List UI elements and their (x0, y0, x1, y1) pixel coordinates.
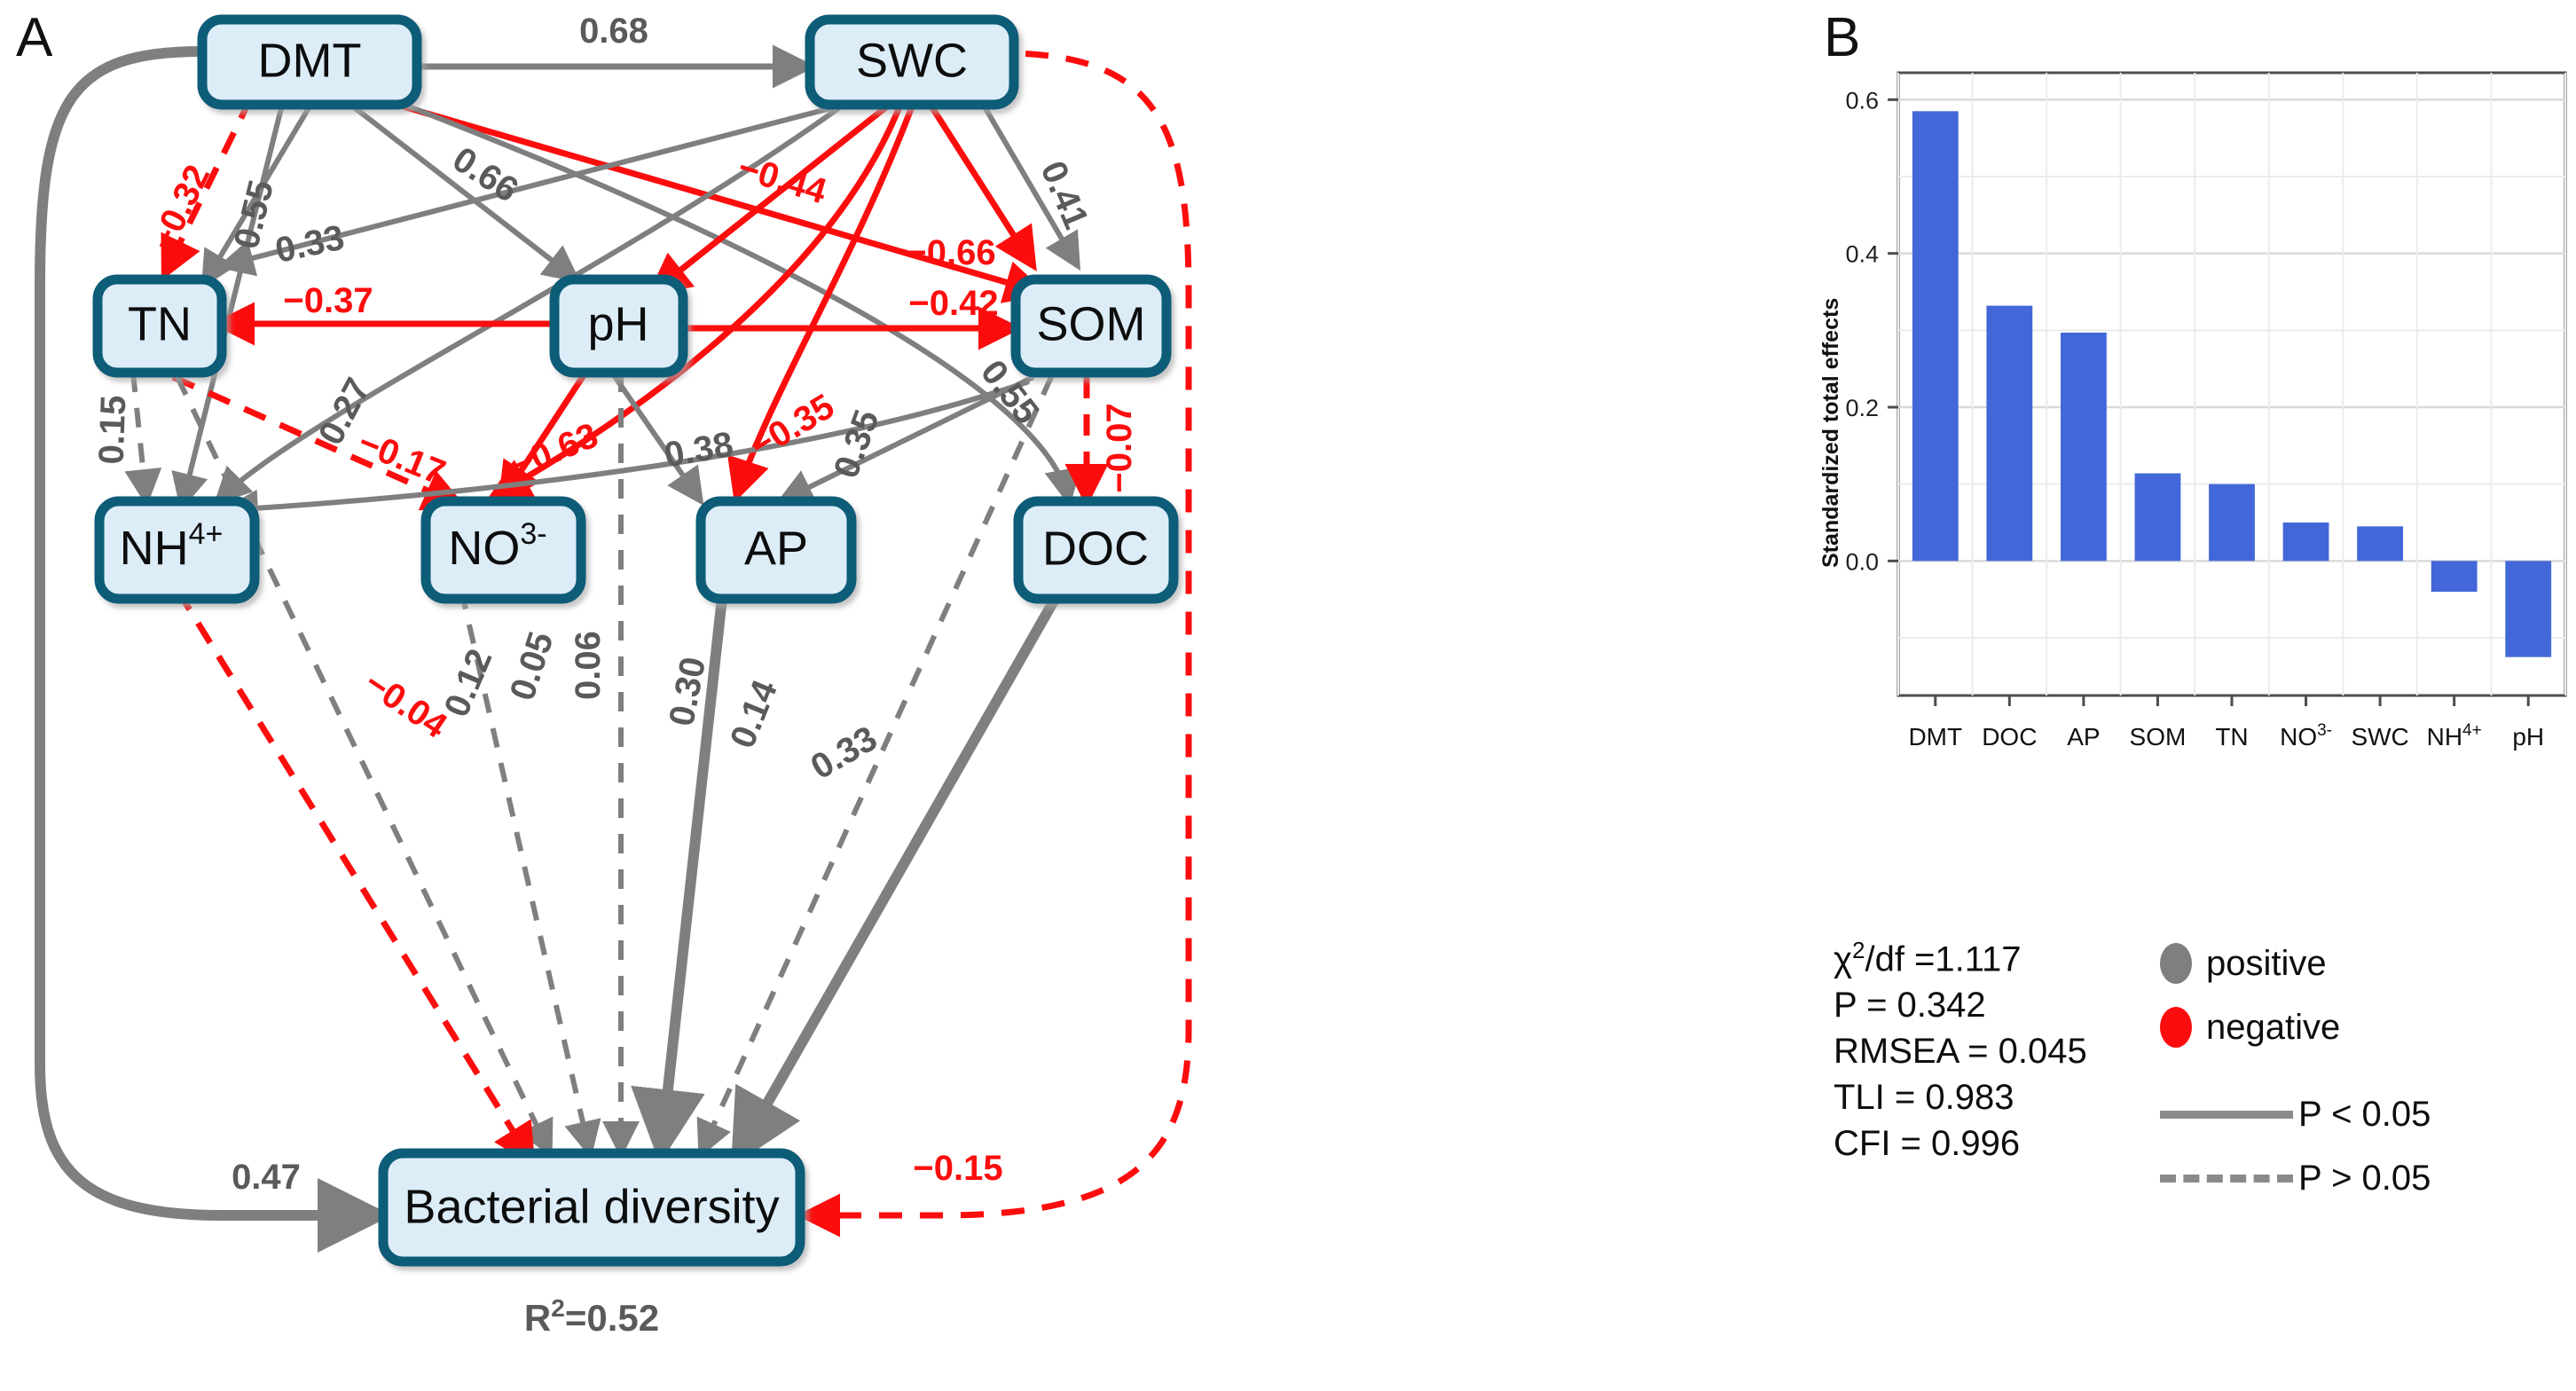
y-tick-label: 0.4 (1845, 241, 1879, 268)
coef-swc-som-neg: −0.66 (906, 233, 995, 272)
coef-ph-ap: 0.38 (662, 425, 736, 475)
standardized-total-effects-chart: Standardized total effects 0.60.40.20.0 … (1810, 0, 2576, 914)
bar[interactable] (2431, 561, 2478, 592)
edge-tn-no3-neg (173, 377, 461, 506)
dashed-line-icon (2160, 1175, 2293, 1183)
x-tick-label: SWC (2351, 723, 2408, 751)
legend-negative-label: negative (2206, 1008, 2340, 1048)
x-tick-label: NO3- (2280, 721, 2332, 751)
node-nh4-sup: 4+ (189, 517, 224, 551)
panel-b: B Standardized total effects 0.60.40.20.… (1810, 0, 2576, 1391)
node-swc[interactable]: SWC (810, 20, 1014, 105)
figure-root: A (0, 0, 2576, 1391)
bar[interactable] (2505, 561, 2551, 656)
node-som-label: SOM (1036, 297, 1145, 350)
negative-dot-icon (2160, 1007, 2192, 1048)
coef-som-bact: 0.14 (723, 674, 785, 753)
node-nh4[interactable]: NH4+ (99, 501, 255, 599)
node-tn[interactable]: TN (98, 279, 222, 373)
node-som[interactable]: SOM (1016, 279, 1166, 373)
stat-rmsea: RMSEA = 0.045 (1834, 1028, 2087, 1074)
x-axis-ticks: DMTDOCAPSOMTNNO3-SWCNH4+pH (1908, 695, 2544, 751)
node-bact-label: Bacterial diversity (404, 1180, 779, 1233)
coef-no3-bact: 0.05 (503, 627, 562, 705)
coef-swc-ap-neg: −0.35 (744, 387, 841, 467)
x-tick-label: TN (2215, 723, 2248, 751)
x-tick-label: DMT (1908, 723, 1962, 751)
node-ph[interactable]: pH (554, 279, 683, 373)
bar[interactable] (2357, 526, 2403, 561)
solid-line-icon (2160, 1111, 2293, 1119)
coef-tn-nh4: 0.15 (92, 395, 134, 465)
y-tick-label: 0.0 (1845, 548, 1879, 575)
coef-dmt-tn-neg: −0.32 (143, 159, 217, 256)
node-ap[interactable]: AP (701, 501, 852, 599)
edge-som-bact (701, 377, 1051, 1153)
legend-item-positive: positive (2160, 931, 2431, 995)
bar[interactable] (1912, 111, 1959, 561)
coef-dmt-tn: 0.33 (272, 218, 348, 271)
bar[interactable] (1986, 306, 2032, 562)
stat-chi-square: χ2/df =1.117 (1834, 936, 2087, 982)
legend: positive negative P < 0.05 P > 0.05 (2160, 931, 2431, 1210)
stat-cfi: CFI = 0.996 (1834, 1120, 2087, 1167)
coef-swc-doc: 0.41 (1033, 155, 1096, 234)
x-tick-label: NH4+ (2427, 721, 2482, 751)
node-no3-sup: 3- (520, 517, 546, 551)
edge-doc-bact (736, 590, 1060, 1158)
node-swc-label: SWC (856, 34, 968, 87)
r-squared-label: R2=0.52 (524, 1294, 659, 1339)
legend-item-significant: P < 0.05 (2160, 1082, 2431, 1146)
chart-y-axis-label: Standardized total effects (1818, 298, 1843, 568)
bar[interactable] (2283, 523, 2329, 561)
edge-tn-nh4 (133, 373, 146, 501)
x-tick-label: SOM (2130, 723, 2187, 751)
y-axis-ticks: 0.60.40.20.0 (1845, 87, 1898, 575)
node-tn-label: TN (128, 297, 192, 350)
fit-statistics: χ2/df =1.117 P = 0.342 RMSEA = 0.045 TLI… (1834, 936, 2087, 1167)
coef-swc-ph-neg: −0.44 (734, 148, 831, 212)
x-tick-label: DOC (1982, 723, 2037, 751)
stat-tli: TLI = 0.983 (1834, 1074, 2087, 1120)
node-ph-label: pH (587, 297, 648, 350)
x-tick-label: AP (2067, 723, 2100, 751)
positive-dot-icon (2160, 943, 2192, 984)
bar[interactable] (2135, 474, 2181, 562)
stat-p: P = 0.342 (1834, 982, 2087, 1028)
bar[interactable] (2061, 333, 2107, 561)
node-doc[interactable]: DOC (1018, 501, 1174, 599)
coef-dmt-swc: 0.68 (579, 12, 648, 51)
sem-diagram: DMT SWC TN pH SOM NH4+ (0, 0, 1810, 1391)
bar[interactable] (2209, 484, 2255, 562)
legend-item-negative: negative (2160, 995, 2431, 1059)
node-no3-label: NO (448, 522, 520, 575)
x-tick-label: pH (2512, 723, 2544, 751)
legend-p-lt-label: P < 0.05 (2298, 1095, 2431, 1135)
node-dmt[interactable]: DMT (202, 20, 417, 105)
coef-ph-tn-neg: −0.37 (283, 281, 373, 320)
node-doc-label: DOC (1042, 522, 1149, 575)
y-tick-label: 0.6 (1845, 87, 1879, 114)
legend-p-gt-label: P > 0.05 (2298, 1159, 2431, 1198)
node-no3[interactable]: NO3- (426, 501, 581, 599)
coef-ph-som-neg: −0.42 (908, 284, 998, 323)
coef-som-doc-neg: −0.07 (1100, 403, 1139, 492)
coef-ph-bact: 0.06 (569, 631, 608, 700)
node-nh4-label: NH (120, 522, 189, 575)
node-dmt-label: DMT (258, 34, 362, 87)
y-tick-label: 0.2 (1845, 395, 1879, 421)
coef-swc-bact-neg: −0.15 (913, 1149, 1002, 1188)
node-bacterial-diversity[interactable]: Bacterial diversity (383, 1153, 800, 1261)
legend-item-nonsignificant: P > 0.05 (2160, 1146, 2431, 1210)
legend-positive-label: positive (2206, 944, 2327, 984)
edges (40, 51, 1189, 1215)
node-ap-label: AP (744, 522, 808, 575)
coef-dmt-bact: 0.47 (232, 1158, 301, 1197)
